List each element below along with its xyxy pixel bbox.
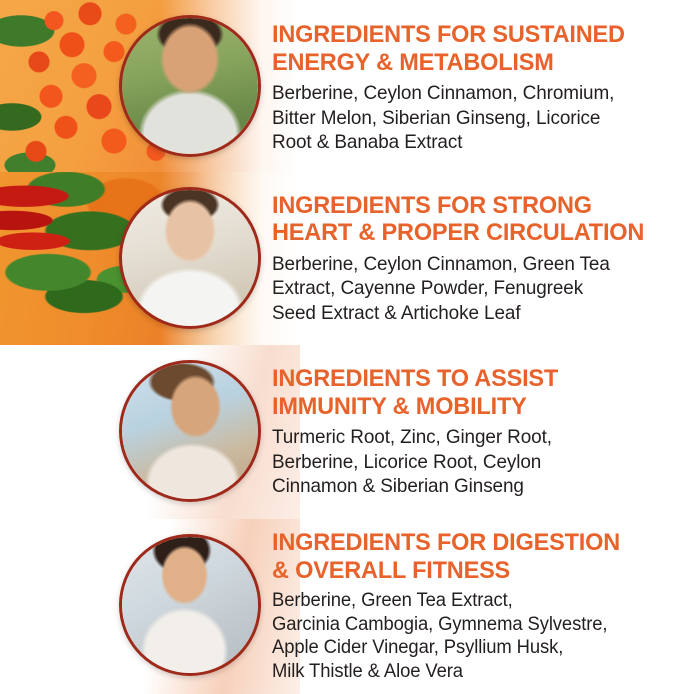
- panel-3-ingredient-list: Turmeric Root, Zinc, Ginger Root, Berber…: [272, 425, 659, 499]
- panel-4-copy: INGREDIENTS FOR DIGESTION & OVERALL FITN…: [272, 519, 671, 694]
- panel-2-headline: INGREDIENTS FOR STRONG HEART & PROPER CI…: [272, 192, 655, 247]
- panel-immunity-mobility: INGREDIENTS TO ASSIST IMMUNITY & MOBILIT…: [0, 345, 679, 519]
- panel-strong-heart-circulation: INGREDIENTS FOR STRONG HEART & PROPER CI…: [0, 172, 679, 345]
- panel-3-portrait-image: [122, 363, 258, 499]
- panel-3-copy: INGREDIENTS TO ASSIST IMMUNITY & MOBILIT…: [272, 345, 671, 519]
- panel-4-headline: INGREDIENTS FOR DIGESTION & OVERALL FITN…: [272, 529, 655, 584]
- panel-1-portrait-man-running: [119, 15, 261, 157]
- panel-1-ingredient-list: Berberine, Ceylon Cinnamon, Chromium, Bi…: [272, 81, 659, 155]
- panel-4-ingredient-list: Berberine, Green Tea Extract, Garcinia C…: [272, 589, 659, 684]
- panel-4-portrait-woman-measuring-waist: [119, 534, 261, 676]
- panel-4-portrait-image: [122, 537, 258, 673]
- panel-3-headline: INGREDIENTS TO ASSIST IMMUNITY & MOBILIT…: [272, 365, 655, 420]
- panel-sustained-energy-metabolism: INGREDIENTS FOR SUSTAINED ENERGY & METAB…: [0, 0, 679, 172]
- panel-3-portrait-woman-running: [119, 360, 261, 502]
- ingredients-infographic: INGREDIENTS FOR SUSTAINED ENERGY & METAB…: [0, 0, 679, 694]
- panel-1-headline: INGREDIENTS FOR SUSTAINED ENERGY & METAB…: [272, 21, 655, 76]
- panel-digestion-overall-fitness: INGREDIENTS FOR DIGESTION & OVERALL FITN…: [0, 519, 679, 694]
- panel-2-copy: INGREDIENTS FOR STRONG HEART & PROPER CI…: [272, 172, 671, 345]
- panel-2-portrait-woman-breathing: [119, 187, 261, 329]
- panel-2-ingredient-list: Berberine, Ceylon Cinnamon, Green Tea Ex…: [272, 252, 659, 326]
- panel-1-portrait-image: [122, 18, 258, 154]
- panel-2-portrait-image: [122, 190, 258, 326]
- panel-1-copy: INGREDIENTS FOR SUSTAINED ENERGY & METAB…: [272, 0, 671, 172]
